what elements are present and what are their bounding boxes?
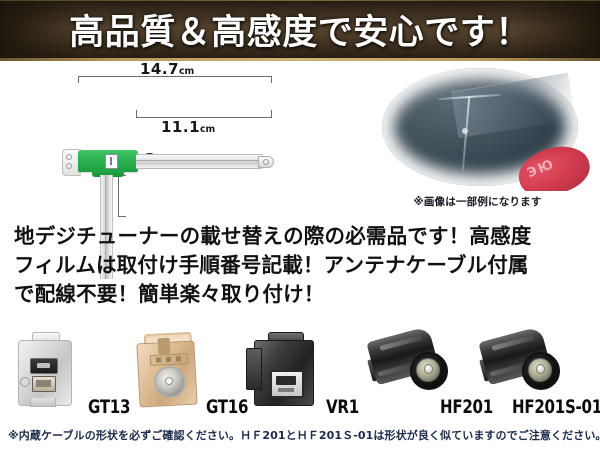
antenna-film-diagram: 14.7cm 11.1cm 8.2cm — [0, 62, 355, 217]
connector-label-vr1: VR1 — [326, 396, 359, 418]
film-pad-hole-icon — [66, 163, 72, 169]
description-line-3: で配線不要！簡単楽々取り付け！ — [14, 280, 592, 309]
connector-label-gt13: GT13 — [88, 396, 130, 418]
banner-title: 高品質＆高感度で安心です！ — [0, 0, 600, 58]
film-horizontal-arm — [136, 154, 263, 169]
installed-antenna-node — [462, 128, 468, 134]
connector-type-row: GT13 GT16 VR1 HF201 HF201S-01 — [0, 332, 600, 418]
dimension-label-top-width: 14.7cm — [140, 60, 194, 78]
product-description: 地デジチューナーの載せ替えの際の必需品です！高感度 フィルムは取付け手順番号記載… — [14, 222, 592, 309]
connector-gt16 — [128, 332, 202, 408]
film-arm-hole-icon — [263, 159, 269, 165]
connector-gt13 — [12, 332, 78, 408]
connector-label-hf201s-01: HF201S-01 — [512, 396, 600, 418]
connector-label-gt16: GT16 — [206, 396, 248, 418]
dimension-label-arm-width: 11.1cm — [161, 118, 215, 136]
connector-vr1 — [246, 332, 322, 408]
description-line-2: フィルムは取付け手順番号記載！アンテナケーブル付属 — [14, 251, 592, 280]
film-chip-marker — [105, 154, 118, 169]
install-example-photo: ЭЮ — [360, 66, 595, 191]
footer-note: ※内蔵ケーブルの形状を必ずご確認ください。ＨＦ201とＨＦ201Ｓ-01は形状が… — [8, 427, 596, 443]
product-banner-page: 高品質＆高感度で安心です！ 14.7cm 11.1cm 8.2cm — [0, 0, 600, 450]
film-pad-hole-icon — [66, 154, 72, 160]
photo-caption: ※画像は一部例になります — [360, 194, 595, 209]
description-line-1: 地デジチューナーの載せ替えの際の必需品です！高感度 — [14, 222, 592, 251]
banner-bottom-rule — [0, 58, 600, 61]
inspection-sticker-text: ЭЮ — [525, 157, 557, 182]
